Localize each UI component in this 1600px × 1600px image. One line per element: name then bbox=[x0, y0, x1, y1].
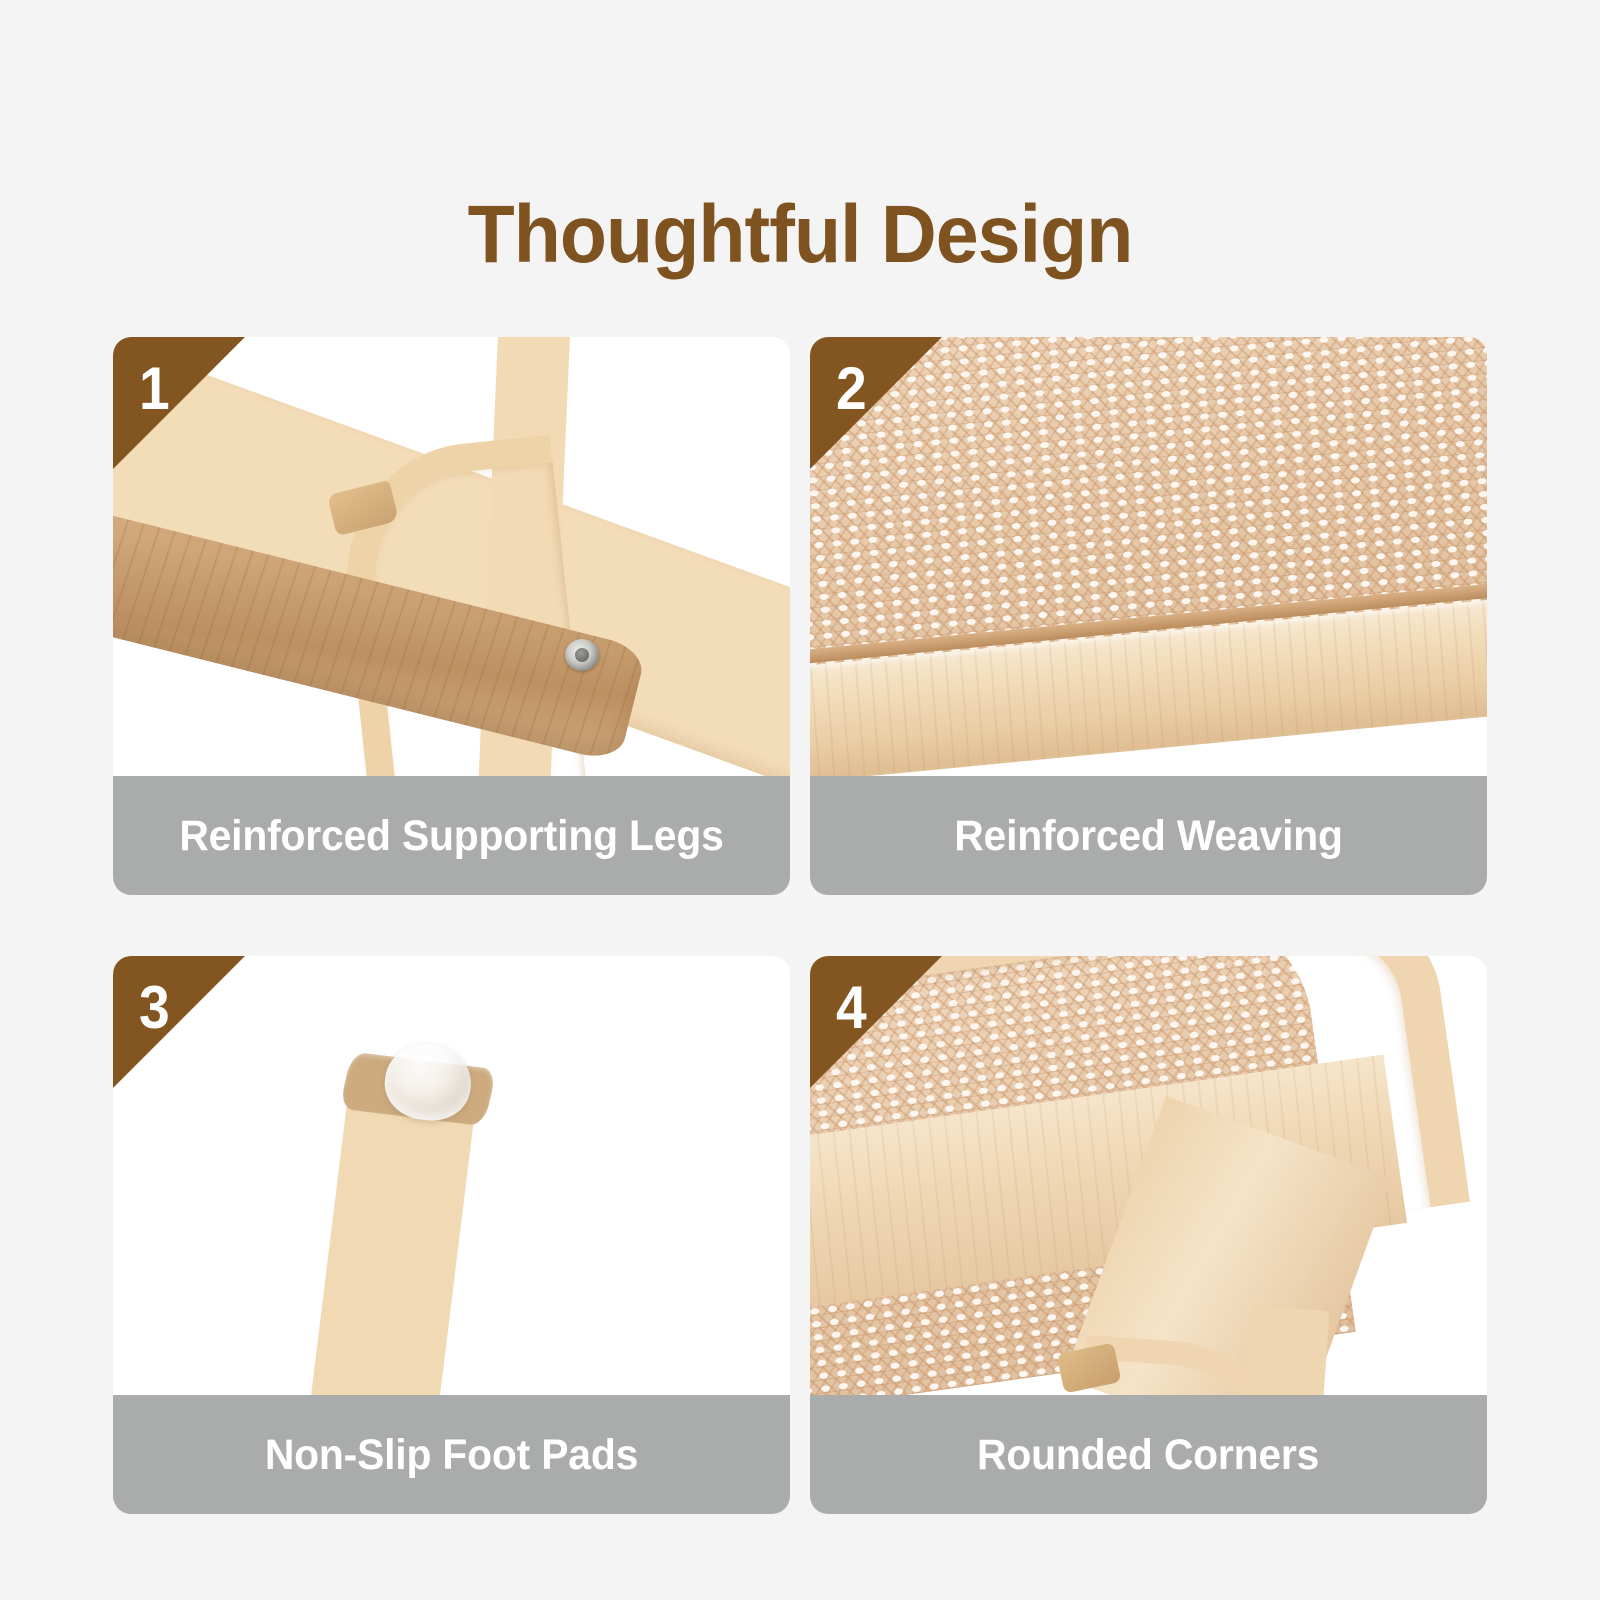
page-title: Thoughtful Design bbox=[48, 187, 1552, 283]
feature-card-4[interactable]: 4 Rounded Corners bbox=[810, 956, 1487, 1514]
feature-caption-text: Rounded Corners bbox=[977, 1428, 1319, 1482]
feature-caption-bar-1: Reinforced Supporting Legs bbox=[113, 776, 790, 895]
metal-screw-icon bbox=[565, 639, 599, 671]
infographic-page: Thoughtful Design 1 Reinforced Supportin… bbox=[0, 0, 1600, 1600]
feature-grid: 1 Reinforced Supporting Legs 2 Reinforce… bbox=[113, 337, 1487, 1514]
feature-card-3[interactable]: 3 Non-Slip Foot Pads bbox=[113, 956, 790, 1514]
feature-card-1[interactable]: 1 Reinforced Supporting Legs bbox=[113, 337, 790, 895]
feature-caption-bar-2: Reinforced Weaving bbox=[810, 776, 1487, 895]
feature-caption-text: Non-Slip Foot Pads bbox=[265, 1428, 638, 1482]
feature-caption-bar-3: Non-Slip Foot Pads bbox=[113, 1395, 790, 1514]
feature-caption-text: Reinforced Supporting Legs bbox=[179, 809, 723, 863]
feature-caption-text: Reinforced Weaving bbox=[954, 809, 1343, 863]
feature-card-2[interactable]: 2 Reinforced Weaving bbox=[810, 337, 1487, 895]
feature-caption-bar-4: Rounded Corners bbox=[810, 1395, 1487, 1514]
